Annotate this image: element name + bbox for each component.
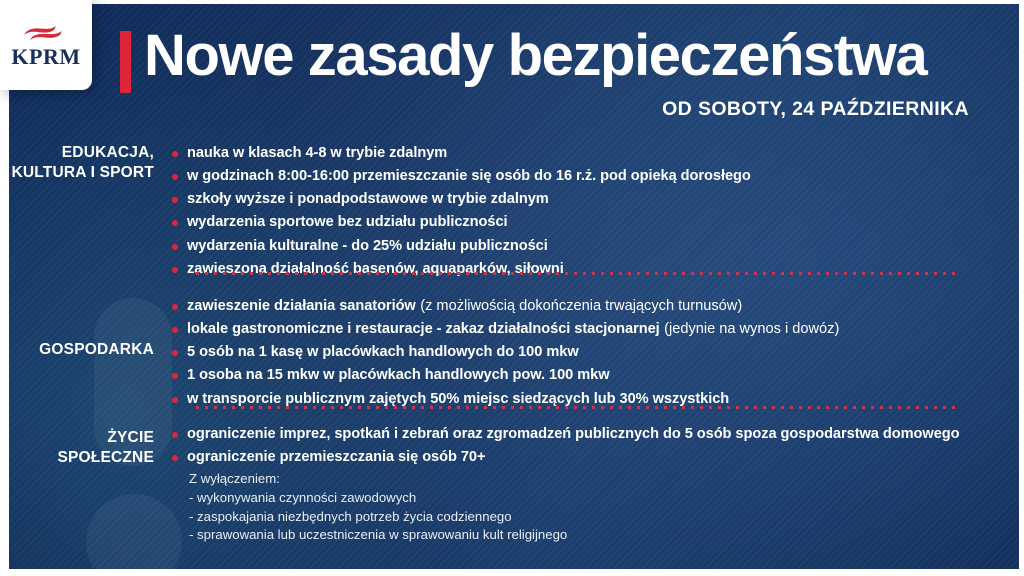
bullet-text: lokale gastronomiczne i restauracje - za… bbox=[187, 321, 660, 337]
kprm-logo: KPRM bbox=[0, 0, 92, 90]
section-social-life: ŻYCIE SPOŁECZNE ograniczenie imprez, spo… bbox=[0, 424, 990, 545]
infographic-poster: KPRM Nowe zasady bezpieczeństwa OD SOBOT… bbox=[0, 0, 1024, 576]
bullet-note: (z możliwością dokończenia trwających tu… bbox=[420, 298, 742, 314]
list-item: w godzinach 8:00-16:00 przemieszczanie s… bbox=[170, 166, 990, 186]
bullet-note: (jedynie na wynos i dowóz) bbox=[664, 321, 839, 337]
exclusion-item: - zaspokajania niezbędnych potrzeb życia… bbox=[189, 508, 990, 527]
section-body-social-life: ograniczenie imprez, spotkań i zebrań or… bbox=[170, 424, 990, 545]
page-subtitle: OD SOBOTY, 24 PAŹDZIERNIKA bbox=[662, 98, 969, 121]
frame-edge-right bbox=[1019, 0, 1024, 576]
list-item: lokale gastronomiczne i restauracje - za… bbox=[170, 319, 990, 339]
section-heading-social-life: ŻYCIE SPOŁECZNE bbox=[0, 424, 170, 545]
frame-edge-bottom bbox=[0, 569, 1024, 576]
bullet-text: zawieszenie działania sanatoriów bbox=[187, 298, 416, 314]
list-item: ograniczenie przemieszczania się osób 70… bbox=[170, 447, 990, 467]
bullet-text: szkoły wyższe i ponadpodstawowe w trybie… bbox=[187, 191, 549, 207]
bullet-text: ograniczenie imprez, spotkań i zebrań or… bbox=[187, 426, 960, 442]
bullet-text: 5 osób na 1 kasę w placówkach handlowych… bbox=[187, 344, 579, 360]
exclusion-item: - wykonywania czynności zawodowych bbox=[189, 489, 990, 508]
bullet-text: w godzinach 8:00-16:00 przemieszczanie s… bbox=[187, 168, 751, 184]
list-item: wydarzenia kulturalne - do 25% udziału p… bbox=[170, 236, 990, 256]
header-title-row: Nowe zasady bezpieczeństwa bbox=[120, 27, 926, 93]
polish-flag-icon bbox=[20, 23, 72, 43]
exclusion-item: - sprawowania lub uczestniczenia w spraw… bbox=[189, 526, 990, 545]
bullet-text: w transporcie publicznym zajętych 50% mi… bbox=[187, 391, 729, 407]
list-item: zawieszenie działania sanatoriów (z możl… bbox=[170, 296, 990, 316]
list-item: 1 osoba na 15 mkw w placówkach handlowyc… bbox=[170, 365, 990, 385]
section-divider bbox=[196, 272, 960, 275]
bullet-text: wydarzenia sportowe bez udziału publiczn… bbox=[187, 214, 508, 230]
section-heading-education: EDUKACJA, KULTURA I SPORT bbox=[0, 143, 170, 282]
bullet-text: ograniczenie przemieszczania się osób 70… bbox=[187, 449, 485, 465]
list-item: 5 osób na 1 kasę w placówkach handlowych… bbox=[170, 342, 990, 362]
list-item: wydarzenia sportowe bez udziału publiczn… bbox=[170, 212, 990, 232]
list-item: szkoły wyższe i ponadpodstawowe w trybie… bbox=[170, 189, 990, 209]
frame-edge-top bbox=[0, 0, 1024, 4]
title-accent-bar bbox=[120, 31, 131, 93]
section-heading-economy: GOSPODARKA bbox=[0, 296, 170, 412]
kprm-logo-text: KPRM bbox=[11, 46, 80, 68]
section-body-education: nauka w klasach 4-8 w trybie zdalnym w g… bbox=[170, 143, 990, 282]
bullet-text: wydarzenia kulturalne - do 25% udziału p… bbox=[187, 238, 548, 254]
exclusions-intro: Z wyłączeniem: bbox=[189, 470, 990, 489]
section-economy: GOSPODARKA zawieszenie działania sanator… bbox=[0, 296, 990, 412]
list-item: ograniczenie imprez, spotkań i zebrań or… bbox=[170, 424, 990, 444]
bullet-text: nauka w klasach 4-8 w trybie zdalnym bbox=[187, 145, 447, 161]
bullet-text: 1 osoba na 15 mkw w placówkach handlowyc… bbox=[187, 367, 610, 383]
list-item: nauka w klasach 4-8 w trybie zdalnym bbox=[170, 143, 990, 163]
page-title: Nowe zasady bezpieczeństwa bbox=[144, 27, 926, 85]
list-item: zawieszona działalność basenów, aquapark… bbox=[170, 259, 990, 279]
section-body-economy: zawieszenie działania sanatoriów (z możl… bbox=[170, 296, 990, 412]
section-education: EDUKACJA, KULTURA I SPORT nauka w klasac… bbox=[0, 143, 990, 282]
exclusions-list: Z wyłączeniem: - wykonywania czynności z… bbox=[170, 470, 990, 545]
section-divider bbox=[196, 406, 960, 409]
